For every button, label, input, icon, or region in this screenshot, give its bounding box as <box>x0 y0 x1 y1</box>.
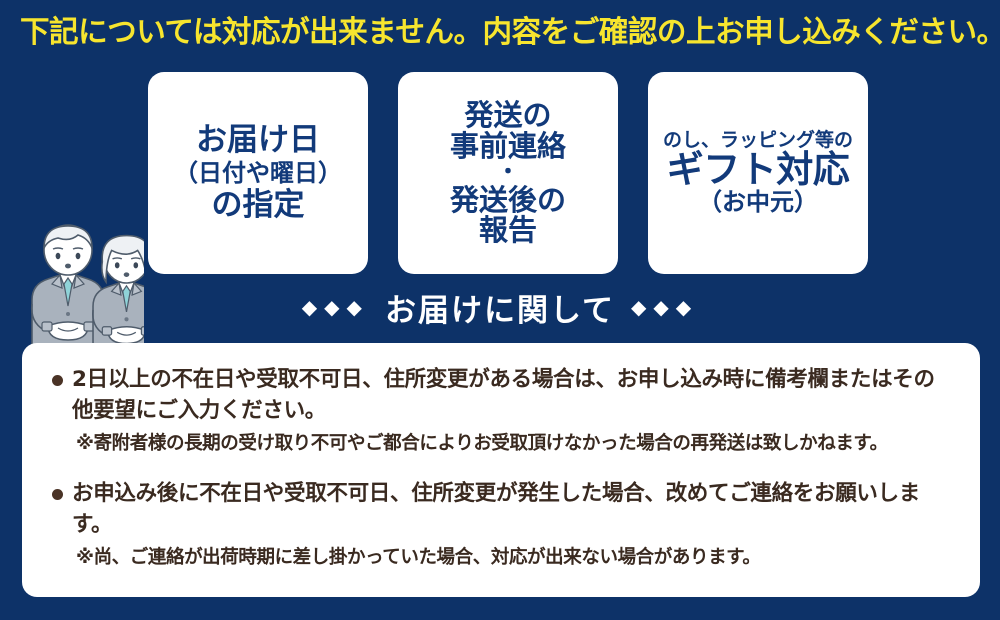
delivery-notes-panel: 2日以上の不在日や受取不可日、住所変更がある場合は、お申し込み時に備考欄またはそ… <box>22 343 980 597</box>
card-line: の指定 <box>212 188 305 223</box>
card-line: （お中元） <box>698 190 818 216</box>
unsupported-items-card-group: お届け日 （日付や曜日） の指定 発送の 事前連絡 ・ 発送後の 報告 のし、ラ… <box>148 72 868 274</box>
card-line: のし、ラッピング等の <box>663 130 853 151</box>
notice-item: お申込み後に不在日や受取不可日、住所変更が発生した場合、改めてご連絡をお願いしま… <box>44 479 954 571</box>
card-line: お届け日 <box>196 123 320 158</box>
diamond-right-icon: ◆◆◆ <box>631 297 698 317</box>
two-bowing-staff-illustration <box>18 218 144 348</box>
card-line: 報告 <box>479 215 537 246</box>
section-divider: ◆◆◆ お届けに関して ◆◆◆ <box>0 283 1000 331</box>
card-delivery-date-designation: お届け日 （日付や曜日） の指定 <box>148 72 368 274</box>
diamond-left-icon: ◆◆◆ <box>302 297 369 317</box>
spacer <box>44 461 954 479</box>
card-line: （日付や曜日） <box>174 160 342 187</box>
bullet-dot-icon <box>52 489 63 500</box>
card-line: ギフト対応 <box>667 150 850 190</box>
notice-subnote: ※尚、ご連絡が出荷時期に差し掛かっていた場合、対応が出来ない場合があります。 <box>76 546 954 571</box>
bullet-dot-icon <box>52 375 63 386</box>
card-shipping-notification: 発送の 事前連絡 ・ 発送後の 報告 <box>398 72 618 274</box>
notice-subnote: ※寄附者様の長期の受け取り不可やご都合によりお受取頂けなかった場合の再発送は致し… <box>76 432 954 457</box>
notice-text: 2日以上の不在日や受取不可日、住所変更がある場合は、お申し込み時に備考欄またはそ… <box>72 365 954 426</box>
card-line: 発送の <box>464 100 551 131</box>
poster-root: 下記については対応が出来ません。内容をご確認の上お申し込みください。 お届け日 … <box>0 0 1000 620</box>
section-title: お届けに関して <box>385 285 615 330</box>
card-line: ・ <box>497 161 519 184</box>
page-title: 下記については対応が出来ません。内容をご確認の上お申し込みください。 <box>20 12 971 54</box>
card-gift-wrapping: のし、ラッピング等の ギフト対応 （お中元） <box>648 72 868 274</box>
notice-text: お申込み後に不在日や受取不可日、住所変更が発生した場合、改めてご連絡をお願いしま… <box>72 479 954 540</box>
notice-item: 2日以上の不在日や受取不可日、住所変更がある場合は、お申し込み時に備考欄またはそ… <box>44 365 954 457</box>
card-line: 発送後の <box>450 185 566 216</box>
card-line: 事前連絡 <box>450 131 566 162</box>
